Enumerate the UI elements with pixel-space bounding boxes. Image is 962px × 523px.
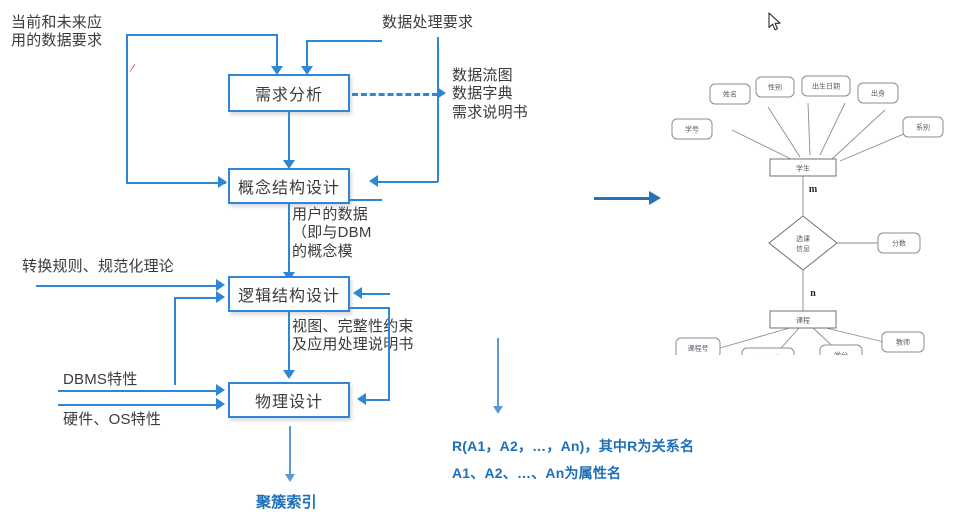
er-attribute-department-label: 系别: [916, 122, 930, 131]
arrow-head: [283, 370, 295, 379]
arrow-head: [216, 384, 225, 396]
flow-line: [437, 37, 439, 182]
er-attribute-student-name[interactable]: 姓名: [710, 84, 750, 104]
er-attribute-origin[interactable]: 出身: [858, 83, 898, 103]
input-label-current-future-requirements: 当前和未来应 用的数据要求: [11, 14, 102, 51]
er-attribute-gender[interactable]: 性别: [756, 77, 794, 97]
arrow-head: [216, 291, 225, 303]
flow-line: [36, 285, 222, 287]
er-diagram: 学生 选课 信息 课程 m n 学号 姓名: [660, 55, 960, 355]
flow-line: [126, 34, 128, 184]
er-relationship-label-line1: 选课: [796, 234, 810, 243]
flow-line: [174, 297, 222, 299]
er-attribute-course-name[interactable]: 课程名称: [742, 348, 794, 355]
arrow-head: [357, 393, 366, 405]
dashed-flow-line: [352, 93, 438, 96]
flow-line: [126, 34, 278, 36]
arrow-head: [218, 176, 227, 188]
arrow-head: [216, 279, 225, 291]
flow-line: [388, 307, 390, 401]
output-label-analysis-deliverables: 数据流图 数据字典 需求说明书: [452, 67, 528, 122]
side-input-label-dbms-features: DBMS特性: [63, 371, 138, 389]
er-attribute-origin-label: 出身: [871, 88, 885, 97]
arrow-head: [285, 474, 295, 482]
input-label-data-processing-requirements: 数据处理要求: [382, 14, 473, 32]
er-attribute-teacher-label: 教师: [896, 337, 910, 346]
flow-line: [289, 426, 291, 478]
flow-line: [288, 204, 290, 276]
process-box-requirement-analysis[interactable]: 需求分析: [228, 74, 350, 112]
er-attribute-department[interactable]: 系别: [903, 117, 943, 137]
flow-line: [497, 338, 499, 410]
output-label-logical-deliverables: 视图、完整性约束 及应用处理说明书: [292, 318, 440, 355]
arrow-head: [353, 287, 362, 299]
flow-line: [174, 297, 176, 385]
er-entity-student[interactable]: 学生: [770, 159, 836, 176]
er-relationship-label-line2: 信息: [796, 244, 810, 253]
panel-connector-arrow-line: [594, 197, 650, 200]
arrow-head: [216, 398, 225, 410]
er-entity-course[interactable]: 课程: [770, 311, 836, 328]
er-attribute-birth-date[interactable]: 出生日期: [802, 76, 850, 96]
er-attribute-score[interactable]: 分数: [878, 233, 920, 253]
side-input-label-hardware-os: 硬件、OS特性: [63, 411, 161, 429]
er-attribute-birth-date-label: 出生日期: [812, 81, 840, 90]
relation-note-line-1: R(A1，A2，…，An)，其中R为关系名: [452, 438, 694, 455]
arrow-head: [493, 406, 503, 414]
flow-line: [362, 293, 390, 295]
relation-note-line-2: A1、A2、…、An为属性名: [452, 465, 621, 482]
flow-line: [288, 312, 290, 374]
er-attribute-course-no[interactable]: 课程号: [676, 338, 720, 355]
er-entity-course-label: 课程: [796, 315, 810, 324]
er-attribute-student-name-label: 姓名: [723, 89, 737, 98]
er-cardinality-m: m: [809, 184, 818, 195]
flow-line: [378, 181, 438, 183]
er-attribute-gender-label: 性别: [768, 82, 782, 91]
process-box-physical-design[interactable]: 物理设计: [228, 382, 350, 418]
er-attribute-student-no[interactable]: 学号: [672, 119, 712, 139]
process-box-conceptual-design[interactable]: 概念结构设计: [228, 168, 350, 204]
er-cardinality-n: n: [810, 288, 816, 299]
flow-line: [366, 399, 390, 401]
flow-line: [276, 34, 278, 70]
process-box-logical-design[interactable]: 逻辑结构设计: [228, 276, 350, 312]
output-label-conceptual-model: 用户的数据 （即与DBM 的概念模: [292, 206, 387, 261]
flow-line: [126, 182, 226, 184]
flow-line: [58, 390, 222, 392]
er-attribute-score-label: 分数: [892, 238, 906, 247]
flow-line: [350, 199, 382, 201]
er-entity-student-label: 学生: [796, 163, 810, 172]
er-attribute-teacher[interactable]: 教师: [882, 332, 924, 352]
er-attribute-student-no-label: 学号: [685, 124, 699, 133]
flow-line: [288, 112, 290, 164]
side-input-label-conversion-rules: 转换规则、规范化理论: [22, 258, 174, 276]
mouse-cursor: [768, 12, 782, 32]
arrow-head: [437, 87, 446, 99]
flow-line: [307, 40, 382, 42]
flow-line: [58, 404, 222, 406]
arrow-head: [369, 175, 378, 187]
er-attribute-credits[interactable]: 学分: [820, 345, 862, 355]
pencil-annotation-icon: [128, 63, 136, 73]
screenshot-canvas: 当前和未来应 用的数据要求 数据处理要求 需求分析 数据流图 数据字典 需求说明…: [0, 0, 962, 523]
output-label-cluster-index: 聚簇索引: [256, 494, 317, 512]
flow-line: [350, 307, 390, 309]
er-attribute-course-no-label: 课程号: [688, 343, 709, 352]
er-relationship-enrollment[interactable]: 选课 信息: [769, 216, 837, 270]
